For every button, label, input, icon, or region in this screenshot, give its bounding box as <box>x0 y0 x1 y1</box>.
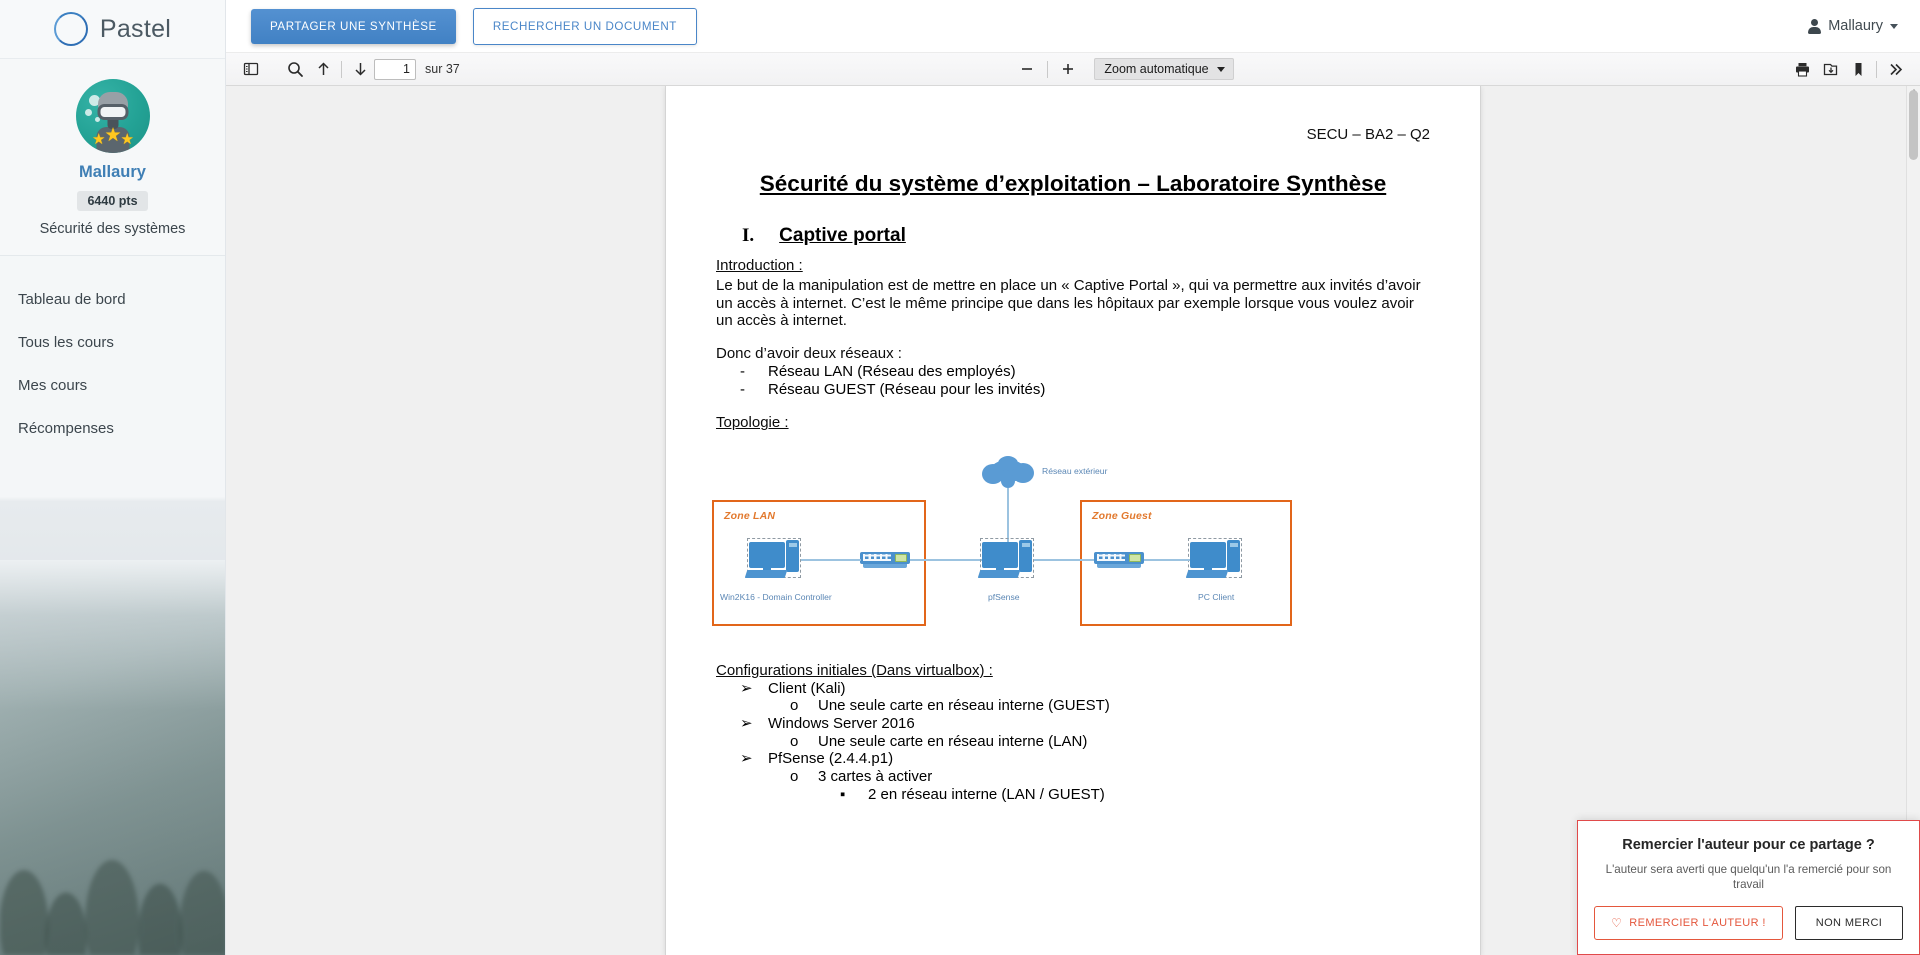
person-icon <box>1808 19 1821 34</box>
config-sublist-1: oUne seule carte en réseau interne (LAN) <box>790 733 1434 751</box>
printer-icon[interactable] <box>1788 56 1816 82</box>
list-item: oUne seule carte en réseau interne (GUES… <box>790 697 1434 715</box>
list-item: -Réseau GUEST (Réseau pour les invités) <box>740 381 1434 399</box>
config-item-1-child-0: Une seule carte en réseau interne (LAN) <box>818 733 1087 751</box>
sidebar-item-all-courses[interactable]: Tous les cours <box>0 321 225 364</box>
section-number: I. <box>742 225 754 247</box>
toolbar-divider <box>341 61 342 78</box>
list-item: ▪2 en réseau interne (LAN / GUEST) <box>840 786 1434 804</box>
double-chevron-right-icon[interactable] <box>1881 56 1909 82</box>
document-section-heading: I. Captive portal <box>742 225 1434 247</box>
config-item-2: PfSense (2.4.4.p1) <box>768 750 893 768</box>
brand-name: Pastel <box>100 15 171 44</box>
page-number-input[interactable] <box>374 59 416 80</box>
minus-icon[interactable] <box>1013 56 1041 82</box>
document-title: Sécurité du système d’exploitation – Lab… <box>748 169 1398 199</box>
config-sublist-0: oUne seule carte en réseau interne (GUES… <box>790 697 1434 715</box>
profile-card: ★★★ Mallaury 6440 pts Sécurité des systè… <box>0 59 225 256</box>
intro-paragraph: Le but de la manipulation est de mettre … <box>716 277 1434 330</box>
user-menu-label: Mallaury <box>1828 18 1883 34</box>
avatar-stars: ★★★ <box>76 129 150 148</box>
guest-node-label: PC Client <box>1198 592 1234 602</box>
bookmark-icon[interactable] <box>1844 56 1872 82</box>
download-icon[interactable] <box>1816 56 1844 82</box>
lan-node-label: Win2K16 - Domain Controller <box>720 592 832 602</box>
config-item-2-child-0: 3 cartes à activer <box>818 768 932 786</box>
wire-firewall-to-guest-switch <box>1034 559 1094 561</box>
zoom-divider <box>1047 61 1048 78</box>
search-document-button[interactable]: RECHERCHER UN DOCUMENT <box>473 8 697 45</box>
page-total-label: sur 37 <box>425 62 460 76</box>
internet-cloud-icon <box>982 456 1034 484</box>
wire-lan-pc-to-switch <box>801 559 861 561</box>
topology-label: Topologie : <box>716 414 789 431</box>
heart-icon: ♡ <box>1611 917 1622 929</box>
lan-switch-icon <box>860 552 910 569</box>
list-item: -Réseau LAN (Réseau des employés) <box>740 363 1434 381</box>
guest-pc-icon <box>1188 540 1242 578</box>
thank-dialog-title: Remercier l'auteur pour ce partage ? <box>1594 837 1903 853</box>
list-item: ➢Client (Kali) <box>740 680 1434 698</box>
config-item-0: Client (Kali) <box>768 680 846 698</box>
firewall-label: pfSense <box>988 592 1020 602</box>
sidebar-background-photo <box>0 560 226 955</box>
profile-points-badge: 6440 pts <box>77 191 147 211</box>
firewall-icon <box>980 540 1034 578</box>
config-label: Configurations initiales (Dans virtualbo… <box>716 662 993 679</box>
config-list: ➢Client (Kali) oUne seule carte en résea… <box>740 680 1434 804</box>
thank-author-dialog: Remercier l'auteur pour ce partage ? L'a… <box>1577 820 1920 955</box>
list-item: oUne seule carte en réseau interne (LAN) <box>790 733 1434 751</box>
cloud-label: Réseau extérieur <box>1042 466 1107 476</box>
network-lan-label: Réseau LAN (Réseau des employés) <box>768 363 1016 381</box>
arrow-up-icon[interactable] <box>309 56 337 82</box>
list-item: ➢Windows Server 2016 <box>740 715 1434 733</box>
sidebar-item-rewards[interactable]: Récompenses <box>0 407 225 450</box>
config-item-0-child-0: Une seule carte en réseau interne (GUEST… <box>818 697 1110 715</box>
sidebar-nav: Tableau de bord Tous les cours Mes cours… <box>0 256 225 450</box>
zoom-select-wrapper: Zoom automatique <box>1084 58 1234 80</box>
arrow-down-icon[interactable] <box>346 56 374 82</box>
main-area: PARTAGER UNE SYNTHÈSE RECHERCHER UN DOCU… <box>226 0 1920 955</box>
config-item-2-grandchild-0: 2 en réseau interne (LAN / GUEST) <box>868 786 1105 804</box>
sidebar-item-dashboard[interactable]: Tableau de bord <box>0 278 225 321</box>
brand-header[interactable]: Pastel <box>0 0 225 59</box>
config-subsublist-2: ▪2 en réseau interne (LAN / GUEST) <box>840 786 1434 804</box>
list-item: o3 cartes à activer <box>790 768 1434 786</box>
scroll-thumb[interactable] <box>1909 90 1918 160</box>
plus-icon[interactable] <box>1054 56 1082 82</box>
circle-ring-logo-icon <box>54 12 88 46</box>
config-sublist-2: o3 cartes à activer ▪2 en réseau interne… <box>790 768 1434 803</box>
toolbar-right-actions <box>1788 56 1909 82</box>
chevron-down-icon <box>1890 24 1898 29</box>
profile-name: Mallaury <box>0 163 225 182</box>
pdf-toolbar: sur 37 Zoom automatique <box>226 53 1920 86</box>
thank-dialog-subtitle: L'auteur sera averti que quelqu'un l'a r… <box>1594 862 1903 892</box>
app-root: Pastel ★★★ Mallaury 6440 pts Sécurité de… <box>0 0 1920 955</box>
sidebar: Pastel ★★★ Mallaury 6440 pts Sécurité de… <box>0 0 226 955</box>
sidebar-item-my-courses[interactable]: Mes cours <box>0 364 225 407</box>
right-divider <box>1876 61 1877 78</box>
networks-list: -Réseau LAN (Réseau des employés) -Résea… <box>740 363 1434 398</box>
zone-guest-label: Zone Guest <box>1092 510 1152 522</box>
document-header-right: SECU – BA2 – Q2 <box>712 126 1434 143</box>
intro-label: Introduction : <box>716 257 803 274</box>
top-bar: PARTAGER UNE SYNTHÈSE RECHERCHER UN DOCU… <box>226 0 1920 53</box>
search-icon[interactable] <box>281 56 309 82</box>
section-title: Captive portal <box>779 225 906 247</box>
share-synthesis-button[interactable]: PARTAGER UNE SYNTHÈSE <box>251 9 456 44</box>
networks-intro: Donc d’avoir deux réseaux : <box>716 345 1434 363</box>
guest-switch-icon <box>1094 552 1144 569</box>
profile-course-name: Sécurité des systèmes <box>0 221 225 237</box>
wire-guest-switch-to-pc <box>1144 559 1190 561</box>
decline-thanks-button[interactable]: NON MERCI <box>1795 906 1903 940</box>
zoom-controls: Zoom automatique <box>460 56 1788 82</box>
thank-author-button[interactable]: ♡ REMERCIER L'AUTEUR ! <box>1594 906 1783 940</box>
pdf-page-1: SECU – BA2 – Q2 Sécurité du système d’ex… <box>666 86 1480 955</box>
config-item-1: Windows Server 2016 <box>768 715 915 733</box>
zoom-select[interactable]: Zoom automatique <box>1094 58 1234 80</box>
user-menu[interactable]: Mallaury <box>1808 18 1898 34</box>
sidebar-panel-icon[interactable] <box>237 56 265 82</box>
diver-avatar-icon[interactable]: ★★★ <box>76 79 150 153</box>
list-item: ➢PfSense (2.4.4.p1) <box>740 750 1434 768</box>
network-topology-diagram: Réseau extérieur Zone LAN Win2K16 - Doma… <box>712 448 1434 648</box>
network-guest-label: Réseau GUEST (Réseau pour les invités) <box>768 381 1045 399</box>
thank-author-button-label: REMERCIER L'AUTEUR ! <box>1629 917 1766 929</box>
lan-pc-icon <box>747 540 801 578</box>
thank-dialog-actions: ♡ REMERCIER L'AUTEUR ! NON MERCI <box>1594 906 1903 940</box>
zone-lan-label: Zone LAN <box>724 510 775 522</box>
